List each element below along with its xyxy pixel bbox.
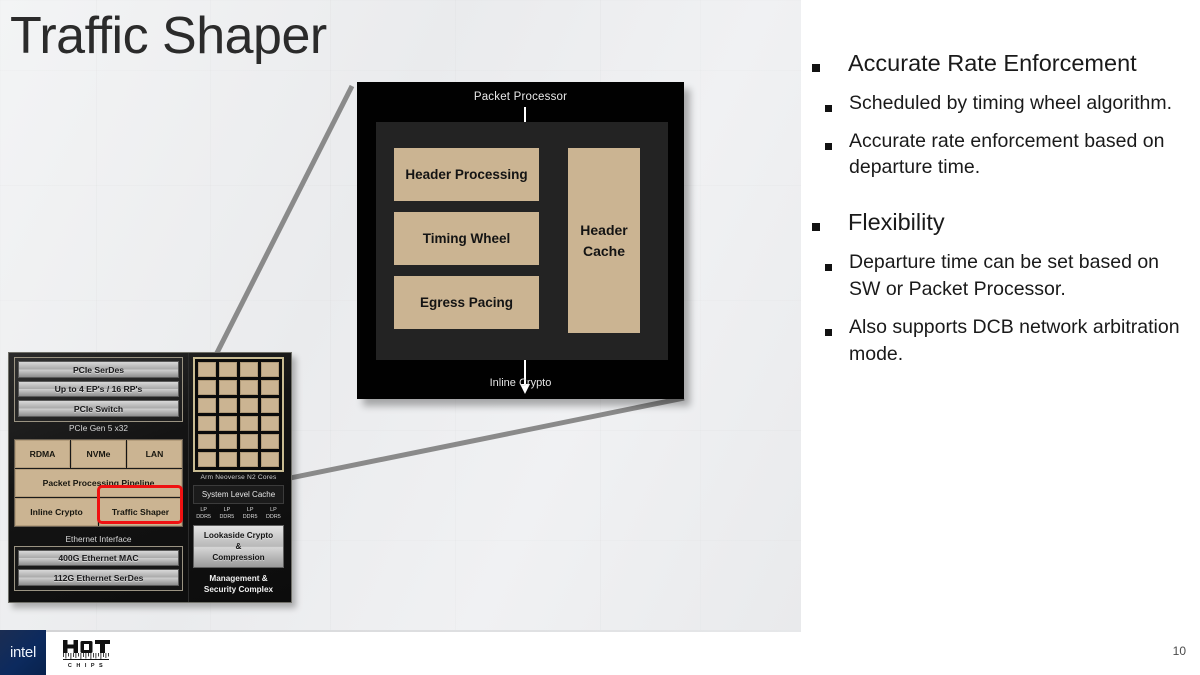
sub-bullet-marker-icon [812, 249, 849, 303]
core-cell [240, 398, 258, 413]
memory-channel-top: LP [240, 507, 261, 514]
footer-divider [0, 630, 801, 632]
management-line-2: Security Complex [193, 584, 284, 595]
block-traffic-shaper: Traffic Shaper [99, 498, 182, 526]
die-right-column: Arm Neoverse N2 Cores System Level Cache… [188, 353, 288, 602]
block-header-processing: Header Processing [394, 148, 539, 201]
bullet-group-spacer [812, 181, 1190, 207]
management-line-1: Management & [193, 573, 284, 584]
memory-channel: LP DDR5 [263, 507, 284, 521]
lookaside-line-2: & [196, 541, 281, 552]
ethernet-mac-bar: 400G Ethernet MAC [18, 550, 179, 567]
fabric-offload-row: Inline Crypto Traffic Shaper [15, 498, 182, 526]
memory-channel-bottom: DDR5 [193, 514, 214, 521]
core-cell [219, 380, 237, 395]
core-cell [261, 362, 279, 377]
bullet-marker-icon [812, 207, 848, 238]
slide-footer: intel C H I P S 10 [0, 630, 1200, 675]
core-cell [219, 452, 237, 467]
sub-bullet-marker-icon [812, 128, 849, 182]
sub-bullet-item: Also supports DCB network arbitration mo… [812, 314, 1190, 368]
memory-channel: LP DDR5 [193, 507, 214, 521]
memory-channel: LP DDR5 [216, 507, 237, 521]
memory-channel-row: LP DDR5 LP DDR5 LP DDR5 LP DDR5 [193, 507, 284, 521]
sub-bullet-text: Also supports DCB network arbitration mo… [849, 314, 1190, 368]
arm-cores-caption: Arm Neoverse N2 Cores [193, 472, 284, 481]
bullet-title: Flexibility [848, 207, 945, 238]
core-cell [240, 362, 258, 377]
sub-bullet-item: Accurate rate enforcement based on depar… [812, 128, 1190, 182]
core-cell [261, 434, 279, 449]
memory-channel: LP DDR5 [240, 507, 261, 521]
sub-bullet-item: Scheduled by timing wheel algorithm. [812, 90, 1190, 117]
block-nvme: NVMe [71, 440, 126, 468]
core-cell [198, 434, 216, 449]
packet-processor-top-label: Packet Processor [357, 91, 684, 103]
sub-bullet-item: Departure time can be set based on SW or… [812, 249, 1190, 303]
hot-chips-logo-icon: C H I P S [62, 637, 122, 669]
fabric-protocol-row: RDMA NVMe LAN [15, 440, 182, 468]
block-lan: LAN [127, 440, 182, 468]
memory-channel-top: LP [216, 507, 237, 514]
page-number: 10 [1173, 644, 1186, 658]
core-cell [219, 416, 237, 431]
core-cell [219, 362, 237, 377]
intel-logo: intel [0, 630, 46, 675]
slide-root: Traffic Shaper Packet Processor Header P… [0, 0, 1200, 675]
page-title: Traffic Shaper [10, 8, 327, 65]
lookaside-line-1: Lookaside Crypto [196, 530, 281, 541]
sub-bullet-marker-icon [812, 90, 849, 117]
block-packet-processing-pipeline: Packet Processing Pipeline [15, 469, 182, 497]
core-cell [261, 416, 279, 431]
core-cell [198, 380, 216, 395]
core-cell [261, 380, 279, 395]
core-cell [240, 380, 258, 395]
bullet-group-flexibility: Flexibility [812, 207, 1190, 238]
ethernet-io-group: 400G Ethernet MAC 112G Ethernet SerDes [14, 546, 183, 591]
core-cell [261, 452, 279, 467]
sub-bullet-text: Accurate rate enforcement based on depar… [849, 128, 1190, 182]
pcie-endpoints-bar: Up to 4 EP's / 16 RP's [18, 381, 179, 398]
pcie-gen-caption: PCIe Gen 5 x32 [14, 422, 183, 435]
sub-bullet-marker-icon [812, 314, 849, 368]
core-cell [198, 452, 216, 467]
sub-bullet-text: Departure time can be set based on SW or… [849, 249, 1190, 303]
hot-chips-wordmark: C H I P S [68, 663, 104, 669]
pcie-switch-bar: PCIe Switch [18, 400, 179, 417]
memory-channel-top: LP [263, 507, 284, 514]
core-grid [198, 362, 279, 467]
core-cell [198, 362, 216, 377]
core-cell [219, 398, 237, 413]
block-rdma: RDMA [15, 440, 70, 468]
bullet-marker-icon [812, 48, 848, 79]
packet-processor-detail-diagram: Packet Processor Header Processing Timin… [357, 82, 684, 399]
memory-channel-bottom: DDR5 [240, 514, 261, 521]
pcie-io-group: PCIe SerDes Up to 4 EP's / 16 RP's PCIe … [14, 357, 183, 422]
ethernet-interface-caption: Ethernet Interface [14, 533, 183, 546]
memory-channel-bottom: DDR5 [216, 514, 237, 521]
core-cell [240, 452, 258, 467]
packet-fabric-group: RDMA NVMe LAN Packet Processing Pipeline… [14, 439, 183, 527]
ethernet-serdes-bar: 112G Ethernet SerDes [18, 569, 179, 586]
core-cell [240, 434, 258, 449]
lookaside-line-3: Compression [196, 552, 281, 563]
management-security-complex-block: Management & Security Complex [193, 573, 284, 596]
pcie-serdes-bar: PCIe SerDes [18, 361, 179, 378]
lookaside-crypto-compression-block: Lookaside Crypto & Compression [193, 525, 284, 568]
sub-bullet-text: Scheduled by timing wheel algorithm. [849, 90, 1172, 117]
block-timing-wheel: Timing Wheel [394, 212, 539, 265]
chip-die-block-diagram: PCIe SerDes Up to 4 EP's / 16 RP's PCIe … [8, 352, 292, 603]
bullet-panel: Accurate Rate Enforcement Scheduled by t… [812, 48, 1190, 368]
block-inline-crypto: Inline Crypto [15, 498, 98, 526]
packet-processor-bottom-label: Inline Crypto [357, 377, 684, 389]
bullet-group-accurate-rate-enforcement: Accurate Rate Enforcement [812, 48, 1190, 79]
memory-channel-top: LP [193, 507, 214, 514]
bullet-title: Accurate Rate Enforcement [848, 48, 1137, 79]
core-cell [240, 416, 258, 431]
core-cell [219, 434, 237, 449]
core-cell [261, 398, 279, 413]
memory-channel-bottom: DDR5 [263, 514, 284, 521]
block-header-cache: Header Cache [568, 148, 640, 333]
system-level-cache-block: System Level Cache [193, 485, 284, 504]
fabric-pipeline-row: Packet Processing Pipeline [15, 469, 182, 497]
packet-processor-stage-column: Header Processing Timing Wheel Egress Pa… [394, 148, 539, 329]
block-egress-pacing: Egress Pacing [394, 276, 539, 329]
die-left-column: PCIe SerDes Up to 4 EP's / 16 RP's PCIe … [9, 353, 188, 602]
core-cell [198, 398, 216, 413]
arm-core-array [193, 357, 284, 472]
core-cell [198, 416, 216, 431]
